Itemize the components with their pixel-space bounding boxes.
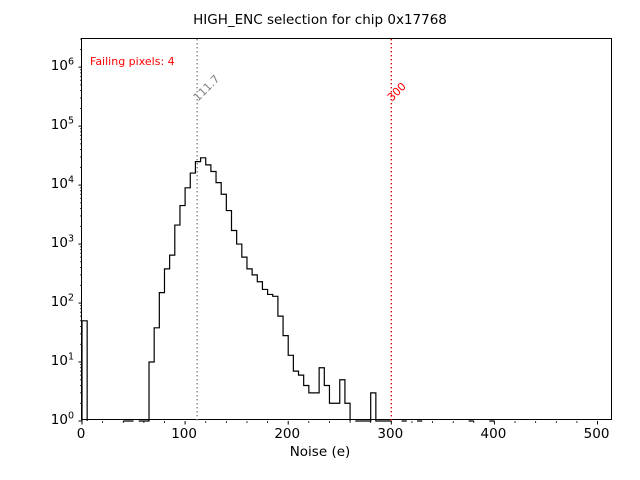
x-tick-label: 200 (274, 426, 300, 442)
figure: HIGH_ENC selection for chip 0x17768 Fail… (0, 0, 640, 480)
y-tick-label: 105 (0, 117, 74, 133)
x-tick-label: 400 (481, 426, 507, 442)
y-tick-label: 104 (0, 176, 74, 192)
y-tick-label: 100 (0, 412, 74, 428)
x-tick-label: 300 (377, 426, 403, 442)
x-axis-label: Noise (e) (0, 444, 640, 460)
x-tick-label: 500 (584, 426, 610, 442)
histogram-outline (82, 158, 494, 421)
plot-area: Failing pixels: 4 111.7 300 (81, 38, 612, 420)
histogram-plot (82, 39, 613, 421)
page-title: HIGH_ENC selection for chip 0x17768 (0, 12, 640, 28)
annotation-failing-pixels: Failing pixels: 4 (90, 55, 175, 68)
y-tick-label: 106 (0, 58, 74, 74)
y-tick-label: 102 (0, 294, 74, 310)
x-tick-label: 100 (171, 426, 197, 442)
x-tick-label: 0 (77, 426, 86, 442)
y-tick-label: 103 (0, 235, 74, 251)
y-tick-label: 101 (0, 353, 74, 369)
